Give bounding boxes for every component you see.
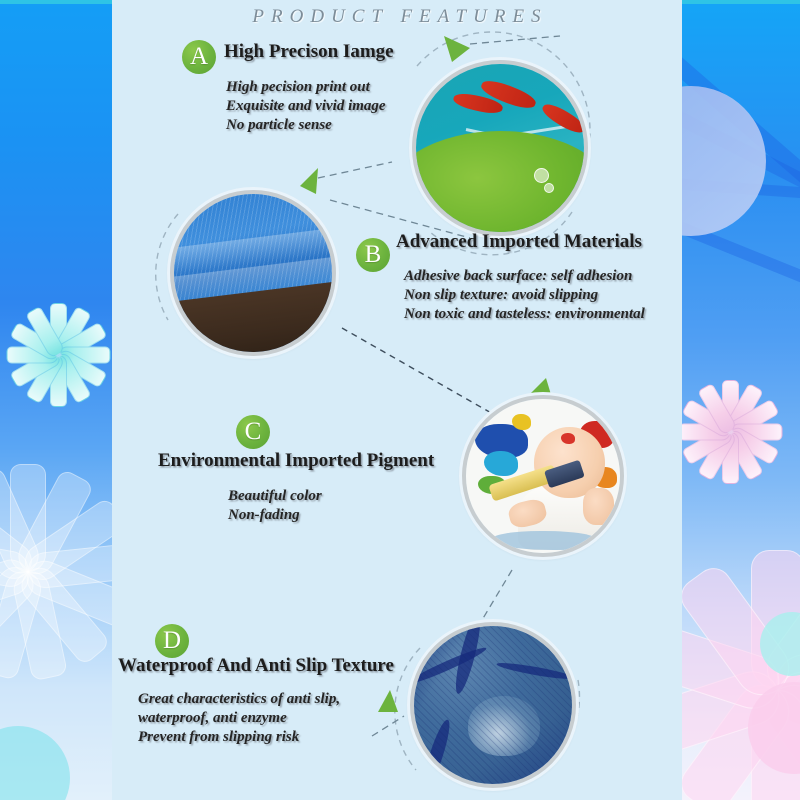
photo-c-paint-splatter-yellow <box>512 414 530 429</box>
left-decorative-band <box>0 0 112 800</box>
product-features-infographic: PRODUCT FEATURES <box>0 0 800 800</box>
baby-with-paintbrush-photo <box>462 395 624 557</box>
section-b-bullet-1: Adhesive back surface: self adhesion <box>404 267 645 286</box>
photo-a-water-drop <box>534 168 549 183</box>
section-badge-d: D <box>155 624 189 658</box>
section-badge-a: A <box>182 40 216 74</box>
photo-a-lotus-leaf <box>412 131 588 236</box>
photo-c-paint-on-forehead <box>561 433 575 444</box>
photo-c-paint-splatter-cyan <box>484 451 518 476</box>
section-b-bullet-2: Non slip texture: avoid slipping <box>404 286 645 305</box>
blue-ribbed-fabric-photo <box>170 190 336 356</box>
koi-fish-lotus-leaf-photo <box>412 60 588 236</box>
section-a-bullet-2: Exquisite and vivid image <box>226 97 386 116</box>
section-d-bullet-2: waterproof, anti enzyme <box>138 709 340 728</box>
section-c-bullet-2: Non-fading <box>228 506 322 525</box>
section-heading-a: High Precison Iamge <box>224 41 394 63</box>
green-arrow-b <box>300 168 318 194</box>
section-bullets-b: Adhesive back surface: self adhesion Non… <box>404 267 645 324</box>
section-a-bullet-3: No particle sense <box>226 116 386 135</box>
section-heading-d: Waterproof And Anti Slip Texture <box>118 655 394 677</box>
connector-a-top <box>470 36 560 44</box>
waterproof-marbled-surface-photo <box>410 622 576 788</box>
page-title: PRODUCT FEATURES <box>0 6 800 28</box>
right-band-top-edge <box>682 0 800 4</box>
section-bullets-a: High pecision print out Exquisite and vi… <box>226 78 386 135</box>
photo-a-water-drop-2 <box>544 183 554 193</box>
section-badge-b: B <box>356 238 390 272</box>
section-a-bullet-1: High pecision print out <box>226 78 386 97</box>
right-decorative-band <box>682 0 800 800</box>
section-bullets-d: Great characteristics of anti slip, wate… <box>138 690 340 747</box>
green-arrow-d <box>378 690 398 712</box>
connector-b-to-a <box>318 162 392 178</box>
photo-c-baby-arm-right <box>583 488 614 525</box>
photo-d-hatch-texture <box>414 626 572 784</box>
section-heading-b: Advanced Imported Materials <box>396 231 642 253</box>
connector-lines-layer <box>0 0 800 800</box>
section-bullets-c: Beautiful color Non-fading <box>228 487 322 525</box>
section-b-bullet-3: Non toxic and tasteless: environmental <box>404 305 645 324</box>
section-d-bullet-3: Prevent from slipping risk <box>138 728 340 747</box>
left-band-top-edge <box>0 0 112 4</box>
green-arrow-a <box>444 36 470 62</box>
section-d-bullet-1: Great characteristics of anti slip, <box>138 690 340 709</box>
section-badge-c: C <box>236 415 270 449</box>
section-heading-c: Environmental Imported Pigment <box>158 450 434 472</box>
connector-d-text <box>372 716 404 736</box>
section-c-bullet-1: Beautiful color <box>228 487 322 506</box>
